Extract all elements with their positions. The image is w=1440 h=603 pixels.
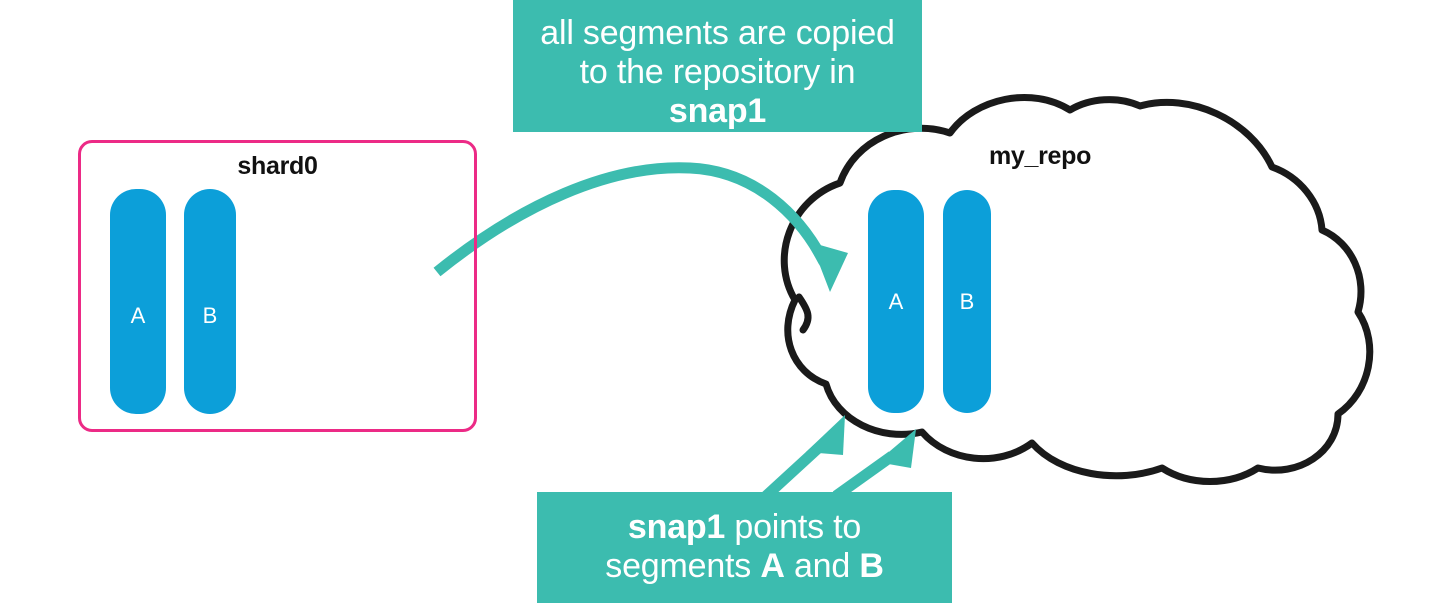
copy-arrow-shaft (437, 168, 824, 272)
my-repo-segment-b: B (943, 190, 991, 413)
callout-bottom-line-1: snap1 points to (547, 508, 942, 547)
my-repo-segment-b-label: B (960, 289, 975, 315)
my-repo-segment-a-label: A (889, 289, 904, 315)
callout-top-line-1: all segments are copied (523, 14, 912, 53)
shard0-segment-b-label: B (203, 303, 218, 329)
my-repo-segment-a: A (868, 190, 924, 413)
callout-snapshot-points-to: snap1 points to segments A and B (537, 492, 952, 603)
diagram-canvas: shard0 A B my_repo A B all segments are … (0, 0, 1440, 603)
callout-bottom-segments-word: segments (605, 547, 760, 585)
shard0-segment-b: B (184, 189, 236, 414)
shard0-segment-a: A (110, 189, 166, 414)
callout-bottom-segment-a: A (760, 547, 784, 585)
shard0-segment-a-label: A (131, 303, 146, 329)
my-repo-label: my_repo (900, 142, 1180, 171)
pointer-arrow-a-head (806, 415, 845, 455)
callout-bottom-line-2: segments A and B (547, 547, 942, 586)
callout-top-line-2: to the repository in (523, 53, 912, 92)
callout-bottom-snapshot-name: snap1 (628, 508, 725, 546)
callout-copy-to-repository: all segments are copied to the repositor… (513, 0, 922, 132)
callout-bottom-segment-b: B (859, 547, 883, 585)
callout-top-snapshot-name: snap1 (669, 92, 766, 130)
shard0-label: shard0 (78, 152, 477, 181)
callout-top-line-3: snap1 (523, 92, 912, 131)
callout-bottom-line-1-rest: points to (725, 508, 861, 546)
callout-bottom-conjunction: and (785, 547, 860, 585)
